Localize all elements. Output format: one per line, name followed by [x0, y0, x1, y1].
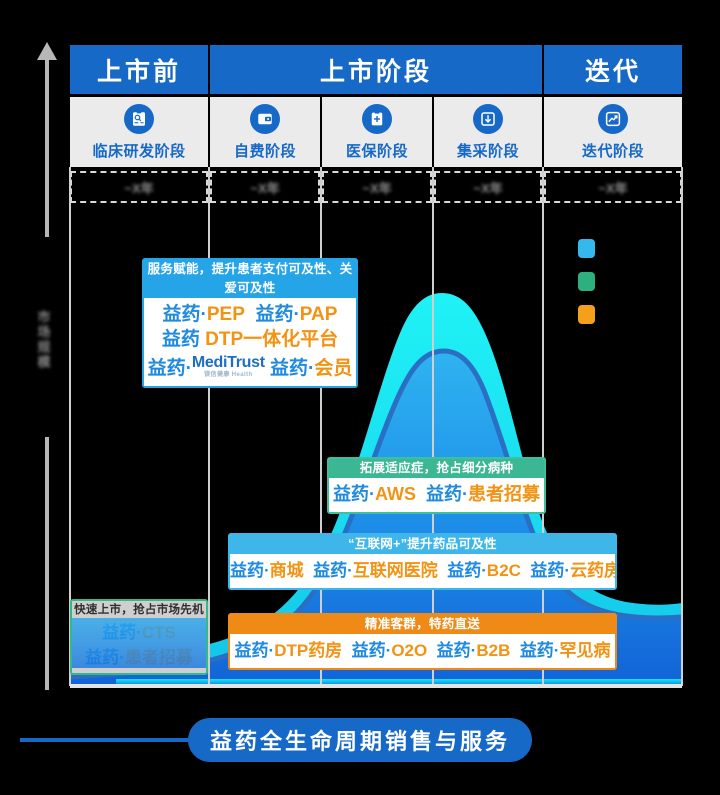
- download-box-icon: [473, 104, 503, 134]
- callout-line: 益药·患者招募: [72, 645, 206, 670]
- callout-line: 益药 DTP一体化平台: [144, 327, 356, 352]
- duration-clinical: ~X年: [70, 171, 208, 203]
- chart-legend: [578, 239, 596, 338]
- banner-connector-line: [20, 738, 192, 742]
- legend-swatch-green: [578, 272, 595, 291]
- y-axis-shaft-lower: [45, 437, 49, 690]
- callout-indication-expansion[interactable]: 拓展适应症，抢占细分病种 益药·AWS 益药·患者招募: [327, 457, 546, 514]
- band-pre-launch: 上市前: [70, 45, 208, 94]
- band-launch: 上市阶段: [210, 45, 542, 94]
- callout-line: 益药·AWS 益药·患者招募: [329, 482, 544, 507]
- meditrust-logo: MediTrust镁信健康 Health: [192, 352, 265, 378]
- callout-line: 益药·CTS: [72, 620, 206, 645]
- clinical-research-icon: [124, 104, 154, 134]
- duration-self-pay: ~X年: [210, 171, 320, 203]
- callout-internet-plus[interactable]: “互联网+”提升药品可及性 益药·商城 益药·互联网医院 益药·B2C 益药·云…: [228, 533, 617, 590]
- stage-cell-insurance[interactable]: 医保阶段: [322, 97, 432, 167]
- y-axis-label: 市场规模: [30, 288, 56, 392]
- callout-body-cts: 益药·CTS 益药·患者招募: [72, 619, 206, 673]
- callout-body-dtp: 益药·DTP药房 益药·O2O 益药·B2B 益药·罕见病: [230, 634, 615, 668]
- duration-insurance: ~X年: [322, 171, 432, 203]
- callout-title-aws: 拓展适应症，抢占细分病种: [329, 459, 544, 478]
- callout-title-net: “互联网+”提升药品可及性: [230, 535, 615, 554]
- stage-cell-procurement[interactable]: 集采阶段: [434, 97, 542, 167]
- callout-line: 益药·MediTrust镁信健康 Health 益药·会员: [144, 352, 356, 381]
- stage-label-procurement: 集采阶段: [457, 140, 519, 161]
- stage-cell-iteration[interactable]: 迭代阶段: [544, 97, 682, 167]
- chart-right-edge: [681, 167, 683, 686]
- callout-service-enablement[interactable]: 服务赋能，提升患者支付可及性、关爱可及性 益药·PEP 益药·PAP 益药 DT…: [142, 258, 358, 388]
- column-divider-4: [542, 167, 544, 686]
- column-divider-3: [432, 167, 434, 686]
- band-iteration: 迭代: [544, 45, 682, 94]
- duration-procurement: ~X年: [434, 171, 542, 203]
- stage-label-iteration: 迭代阶段: [582, 140, 644, 161]
- stage-cell-self-pay[interactable]: 自费阶段: [210, 97, 320, 167]
- callout-body-aws: 益药·AWS 益药·患者招募: [329, 478, 544, 512]
- callout-title-pep: 服务赋能，提升患者支付可及性、关爱可及性: [144, 260, 356, 298]
- callout-body-net: 益药·商城 益药·互联网医院 益药·B2C 益药·云药房: [230, 554, 615, 588]
- callout-line: 益药·商城 益药·互联网医院 益药·B2C 益药·云药房: [230, 558, 615, 583]
- stage-cell-clinical[interactable]: 临床研发阶段: [70, 97, 208, 167]
- callout-fast-launch[interactable]: 快速上市，抢占市场先机 益药·CTS 益药·患者招募: [70, 599, 208, 675]
- y-axis-shaft-upper: [45, 52, 49, 237]
- bottom-banner[interactable]: 益药全生命周期销售与服务: [188, 718, 532, 762]
- infographic-root: 市场规模 上市前 上市阶段 迭代 临床研发阶段 自费阶段 医保阶段 集采阶段 迭…: [0, 0, 720, 795]
- stage-label-insurance: 医保阶段: [346, 140, 408, 161]
- clipboard-plus-icon: [362, 104, 392, 134]
- callout-precision-delivery[interactable]: 精准客群，特药直送 益药·DTP药房 益药·O2O 益药·B2B 益药·罕见病: [228, 613, 617, 670]
- callout-line: 益药·DTP药房 益药·O2O 益药·B2B 益药·罕见病: [230, 638, 615, 663]
- chart-baseline: [70, 684, 682, 688]
- column-divider-1: [208, 167, 210, 686]
- duration-iteration: ~X年: [544, 171, 682, 203]
- callout-line: 益药·PEP 益药·PAP: [144, 302, 356, 327]
- legend-swatch-orange: [578, 305, 595, 324]
- callout-body-pep: 益药·PEP 益药·PAP 益药 DTP一体化平台 益药·MediTrust镁信…: [144, 298, 356, 386]
- column-divider-2: [320, 167, 322, 686]
- trend-chart-icon: [598, 104, 628, 134]
- legend-swatch-blue: [578, 239, 595, 258]
- stage-label-self-pay: 自费阶段: [234, 140, 296, 161]
- callout-title-dtp: 精准客群，特药直送: [230, 615, 615, 634]
- wallet-icon: [250, 104, 280, 134]
- callout-title-cts: 快速上市，抢占市场先机: [72, 601, 206, 619]
- stage-label-clinical: 临床研发阶段: [92, 140, 185, 161]
